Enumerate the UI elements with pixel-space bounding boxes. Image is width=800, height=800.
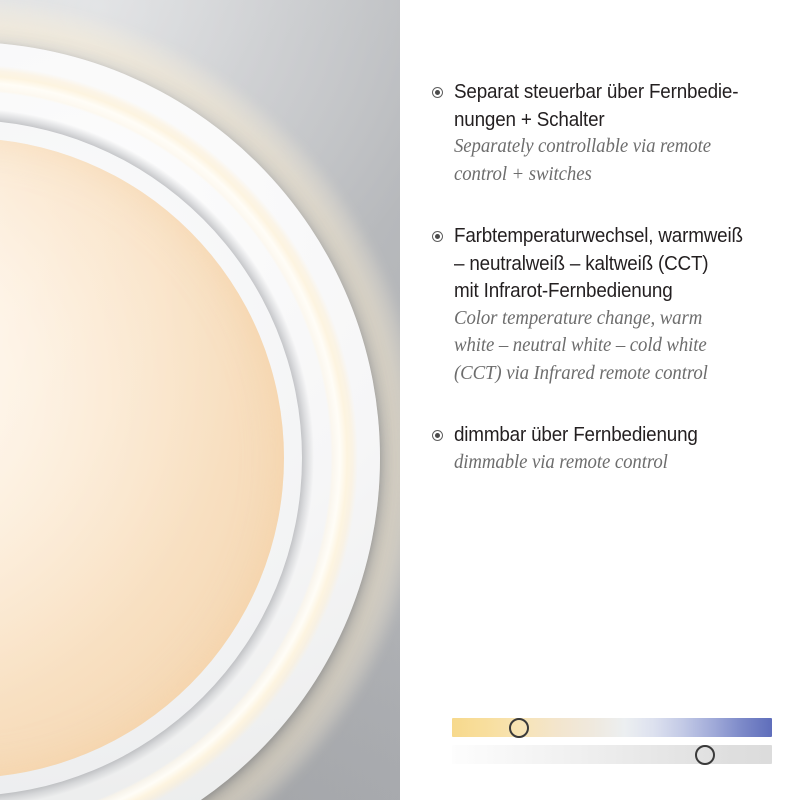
- dimmer-slider[interactable]: [452, 745, 772, 764]
- bullseye-bullet-icon: [432, 231, 443, 242]
- feature-text-de: Farbtemperaturwechsel, warmweiß – neutra…: [454, 222, 790, 305]
- dimmer-track[interactable]: [452, 745, 772, 764]
- bullseye-bullet-icon: [432, 87, 443, 98]
- feature-text-en: Color temperature change, warm white – n…: [454, 305, 791, 388]
- feature-text-en: dimmable via remote control: [454, 449, 791, 477]
- color-temperature-track[interactable]: [452, 718, 772, 737]
- feature-list: Separat steuerbar über Fernbedie- nungen…: [432, 78, 792, 476]
- feature-text-en: Separately controllable via remote contr…: [454, 133, 791, 188]
- feature-panel: Separat steuerbar über Fernbedie- nungen…: [400, 0, 800, 800]
- color-temperature-thumb[interactable]: [509, 718, 529, 738]
- dimmer-thumb[interactable]: [695, 745, 715, 765]
- feature-item: Farbtemperaturwechsel, warmweiß – neutra…: [432, 222, 792, 387]
- bullseye-bullet-icon: [432, 430, 443, 441]
- feature-text-de: dimmbar über Fernbedienung: [454, 421, 790, 449]
- feature-item: dimmbar über Fernbedienung dimmable via …: [432, 421, 792, 476]
- color-temperature-slider[interactable]: [452, 718, 772, 737]
- feature-item: Separat steuerbar über Fernbedie- nungen…: [432, 78, 792, 188]
- product-photo: [0, 0, 400, 800]
- feature-text-de: Separat steuerbar über Fernbedie- nungen…: [454, 78, 790, 133]
- slider-graphics: [452, 718, 772, 764]
- product-feature-slide: Separat steuerbar über Fernbedie- nungen…: [0, 0, 800, 800]
